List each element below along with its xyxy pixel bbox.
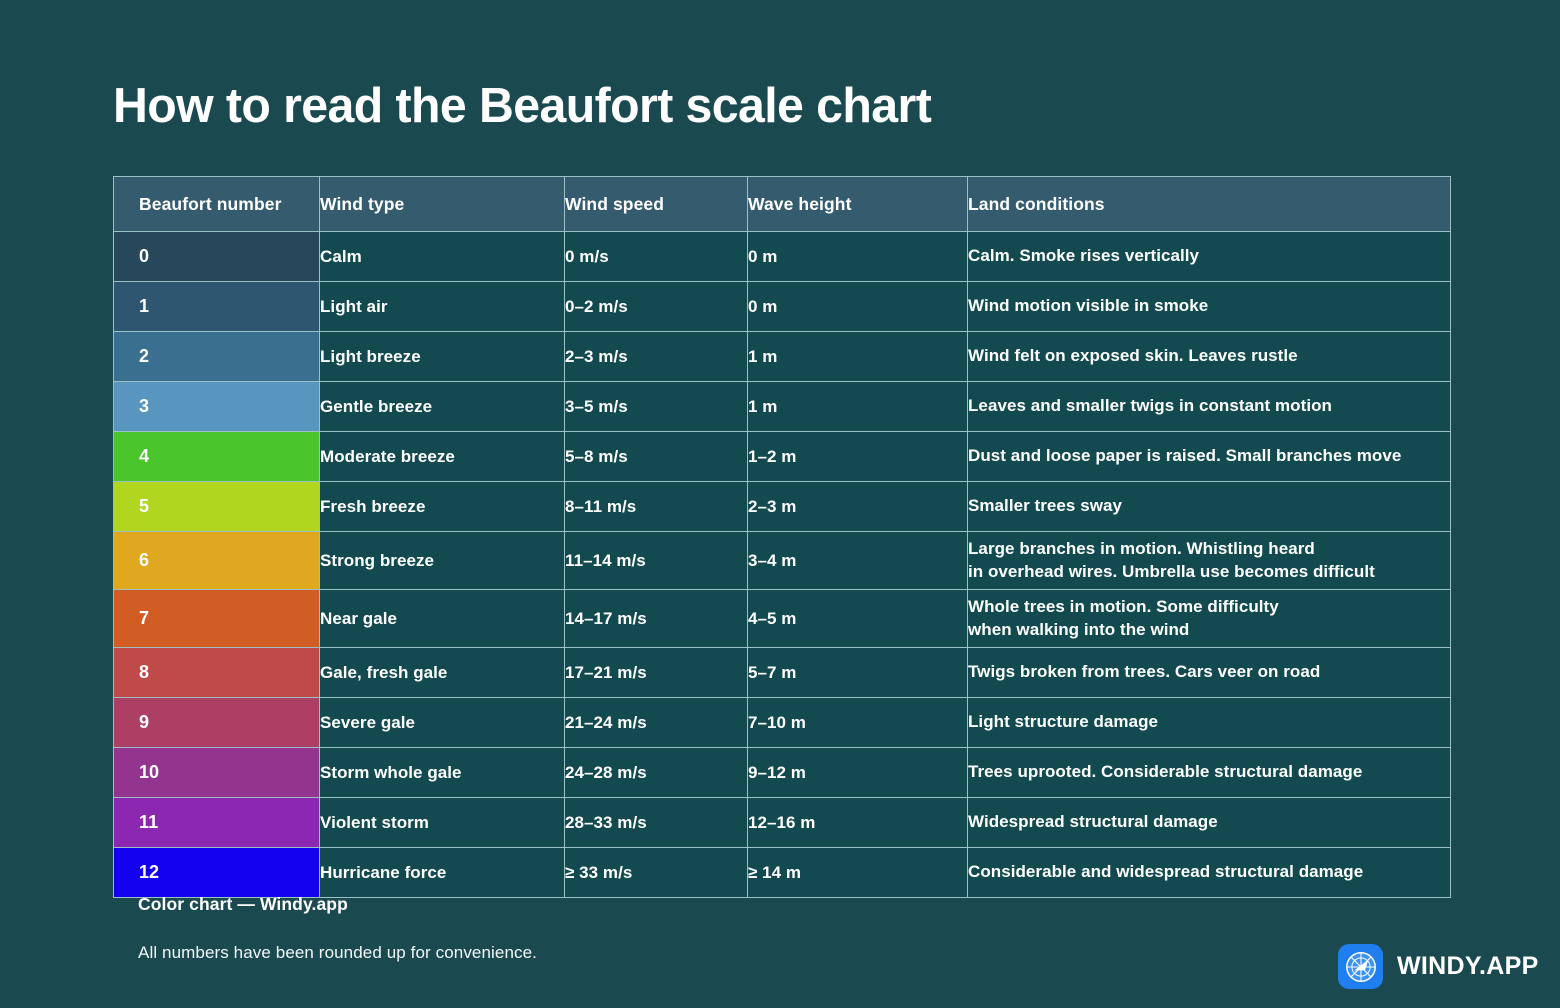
beaufort-color-swatch: 12 (114, 848, 319, 897)
wave-height-cell: 0 m (748, 282, 968, 332)
land-conditions-line1: Considerable and widespread structural d… (968, 861, 1450, 883)
wind-type-cell: Moderate breeze (320, 432, 565, 482)
wind-type-cell: Strong breeze (320, 532, 565, 590)
table-row: 1Light air0–2 m/s0 mWind motion visible … (114, 282, 1451, 332)
land-conditions-line1: Whole trees in motion. Some difficulty (968, 596, 1450, 618)
beaufort-color-swatch: 4 (114, 432, 319, 481)
windy-app-logo[interactable]: WINDY.APP (1338, 944, 1539, 989)
wave-height-cell: 3–4 m (748, 532, 968, 590)
land-conditions-line2: in overhead wires. Umbrella use becomes … (968, 561, 1450, 583)
beaufort-number-cell: 10 (114, 748, 320, 798)
land-conditions-cell: Widespread structural damage (968, 798, 1451, 848)
land-conditions-line1: Large branches in motion. Whistling hear… (968, 538, 1450, 560)
land-conditions-line1: Smaller trees sway (968, 495, 1450, 517)
wind-speed-cell: ≥ 33 m/s (565, 848, 748, 898)
beaufort-color-swatch: 1 (114, 282, 319, 331)
wind-type-cell: Near gale (320, 590, 565, 648)
table-row: 12Hurricane force≥ 33 m/s≥ 14 mConsidera… (114, 848, 1451, 898)
land-conditions-cell: Smaller trees sway (968, 482, 1451, 532)
wind-speed-cell: 3–5 m/s (565, 382, 748, 432)
wind-type-cell: Hurricane force (320, 848, 565, 898)
column-header-wind-type: Wind type (320, 177, 565, 232)
beaufort-number-cell: 12 (114, 848, 320, 898)
table-row: 8Gale, fresh gale17–21 m/s5–7 mTwigs bro… (114, 648, 1451, 698)
beaufort-number-cell: 2 (114, 332, 320, 382)
table-head: Beaufort number Wind type Wind speed Wav… (114, 177, 1451, 232)
table-row: 3Gentle breeze3–5 m/s1 mLeaves and small… (114, 382, 1451, 432)
table-row: 11Violent storm28–33 m/s12–16 mWidesprea… (114, 798, 1451, 848)
wind-type-cell: Calm (320, 232, 565, 282)
wind-type-cell: Gentle breeze (320, 382, 565, 432)
beaufort-color-swatch: 3 (114, 382, 319, 431)
column-header-beaufort-number: Beaufort number (114, 177, 320, 232)
column-header-land-conditions: Land conditions (968, 177, 1451, 232)
wind-speed-cell: 28–33 m/s (565, 798, 748, 848)
wind-type-cell: Light breeze (320, 332, 565, 382)
wave-height-cell: 7–10 m (748, 698, 968, 748)
table-row: 2Light breeze2–3 m/s1 mWind felt on expo… (114, 332, 1451, 382)
wave-height-cell: 12–16 m (748, 798, 968, 848)
compass-rose-icon (1338, 944, 1383, 989)
wind-speed-cell: 11–14 m/s (565, 532, 748, 590)
beaufort-number-cell: 1 (114, 282, 320, 332)
beaufort-color-swatch: 5 (114, 482, 319, 531)
wave-height-cell: 1 m (748, 382, 968, 432)
page-title: How to read the Beaufort scale chart (113, 78, 931, 134)
wind-speed-cell: 17–21 m/s (565, 648, 748, 698)
land-conditions-cell: Leaves and smaller twigs in constant mot… (968, 382, 1451, 432)
wave-height-cell: 2–3 m (748, 482, 968, 532)
land-conditions-cell: Calm. Smoke rises vertically (968, 232, 1451, 282)
land-conditions-line1: Trees uprooted. Considerable structural … (968, 761, 1450, 783)
land-conditions-line1: Twigs broken from trees. Cars veer on ro… (968, 661, 1450, 683)
land-conditions-cell: Wind felt on exposed skin. Leaves rustle (968, 332, 1451, 382)
wind-type-cell: Violent storm (320, 798, 565, 848)
beaufort-color-swatch: 6 (114, 532, 319, 589)
wind-type-cell: Severe gale (320, 698, 565, 748)
wave-height-cell: 9–12 m (748, 748, 968, 798)
table-row: 4Moderate breeze5–8 m/s1–2 mDust and loo… (114, 432, 1451, 482)
land-conditions-line1: Wind motion visible in smoke (968, 295, 1450, 317)
wave-height-cell: 0 m (748, 232, 968, 282)
beaufort-number-cell: 9 (114, 698, 320, 748)
wind-type-cell: Storm whole gale (320, 748, 565, 798)
wind-speed-cell: 24–28 m/s (565, 748, 748, 798)
rounding-note: All numbers have been rounded up for con… (138, 943, 537, 963)
color-chart-credit: Color chart — Windy.app (138, 894, 348, 915)
wind-speed-cell: 5–8 m/s (565, 432, 748, 482)
land-conditions-line1: Leaves and smaller twigs in constant mot… (968, 395, 1450, 417)
wave-height-cell: 1–2 m (748, 432, 968, 482)
table-row: 6Strong breeze11–14 m/s3–4 mLarge branch… (114, 532, 1451, 590)
beaufort-color-swatch: 9 (114, 698, 319, 747)
land-conditions-cell: Light structure damage (968, 698, 1451, 748)
beaufort-number-cell: 6 (114, 532, 320, 590)
land-conditions-cell: Large branches in motion. Whistling hear… (968, 532, 1451, 590)
land-conditions-line1: Widespread structural damage (968, 811, 1450, 833)
land-conditions-cell: Dust and loose paper is raised. Small br… (968, 432, 1451, 482)
table-row: 7Near gale14–17 m/s4–5 mWhole trees in m… (114, 590, 1451, 648)
beaufort-color-swatch: 2 (114, 332, 319, 381)
table-row: 0Calm0 m/s0 mCalm. Smoke rises verticall… (114, 232, 1451, 282)
beaufort-number-cell: 8 (114, 648, 320, 698)
wind-type-cell: Gale, fresh gale (320, 648, 565, 698)
land-conditions-line1: Dust and loose paper is raised. Small br… (968, 445, 1450, 467)
wind-speed-cell: 2–3 m/s (565, 332, 748, 382)
logo-wordmark: WINDY.APP (1397, 952, 1539, 981)
beaufort-scale-table: Beaufort number Wind type Wind speed Wav… (113, 176, 1451, 898)
beaufort-number-cell: 0 (114, 232, 320, 282)
wave-height-cell: ≥ 14 m (748, 848, 968, 898)
land-conditions-cell: Twigs broken from trees. Cars veer on ro… (968, 648, 1451, 698)
wind-speed-cell: 14–17 m/s (565, 590, 748, 648)
beaufort-number-cell: 11 (114, 798, 320, 848)
column-header-wave-height: Wave height (748, 177, 968, 232)
land-conditions-line1: Calm. Smoke rises vertically (968, 245, 1450, 267)
wave-height-cell: 4–5 m (748, 590, 968, 648)
wind-type-cell: Fresh breeze (320, 482, 565, 532)
table-row: 5Fresh breeze8–11 m/s2–3 mSmaller trees … (114, 482, 1451, 532)
beaufort-number-cell: 7 (114, 590, 320, 648)
wind-speed-cell: 0 m/s (565, 232, 748, 282)
beaufort-number-cell: 3 (114, 382, 320, 432)
wind-speed-cell: 0–2 m/s (565, 282, 748, 332)
land-conditions-line1: Light structure damage (968, 711, 1450, 733)
beaufort-color-swatch: 11 (114, 798, 319, 847)
beaufort-color-swatch: 10 (114, 748, 319, 797)
land-conditions-cell: Whole trees in motion. Some difficultywh… (968, 590, 1451, 648)
wind-speed-cell: 8–11 m/s (565, 482, 748, 532)
infographic-canvas: How to read the Beaufort scale chart Bea… (0, 0, 1560, 1008)
land-conditions-cell: Trees uprooted. Considerable structural … (968, 748, 1451, 798)
beaufort-color-swatch: 7 (114, 590, 319, 647)
table-body: 0Calm0 m/s0 mCalm. Smoke rises verticall… (114, 232, 1451, 898)
table-header-row: Beaufort number Wind type Wind speed Wav… (114, 177, 1451, 232)
land-conditions-cell: Considerable and widespread structural d… (968, 848, 1451, 898)
beaufort-number-cell: 5 (114, 482, 320, 532)
beaufort-number-cell: 4 (114, 432, 320, 482)
land-conditions-cell: Wind motion visible in smoke (968, 282, 1451, 332)
beaufort-color-swatch: 8 (114, 648, 319, 697)
beaufort-table-container: Beaufort number Wind type Wind speed Wav… (113, 176, 1450, 898)
table-row: 10Storm whole gale24–28 m/s9–12 mTrees u… (114, 748, 1451, 798)
wave-height-cell: 5–7 m (748, 648, 968, 698)
beaufort-color-swatch: 0 (114, 232, 319, 281)
land-conditions-line2: when walking into the wind (968, 619, 1450, 641)
table-row: 9Severe gale21–24 m/s7–10 mLight structu… (114, 698, 1451, 748)
wind-speed-cell: 21–24 m/s (565, 698, 748, 748)
column-header-wind-speed: Wind speed (565, 177, 748, 232)
land-conditions-line1: Wind felt on exposed skin. Leaves rustle (968, 345, 1450, 367)
wave-height-cell: 1 m (748, 332, 968, 382)
wind-type-cell: Light air (320, 282, 565, 332)
